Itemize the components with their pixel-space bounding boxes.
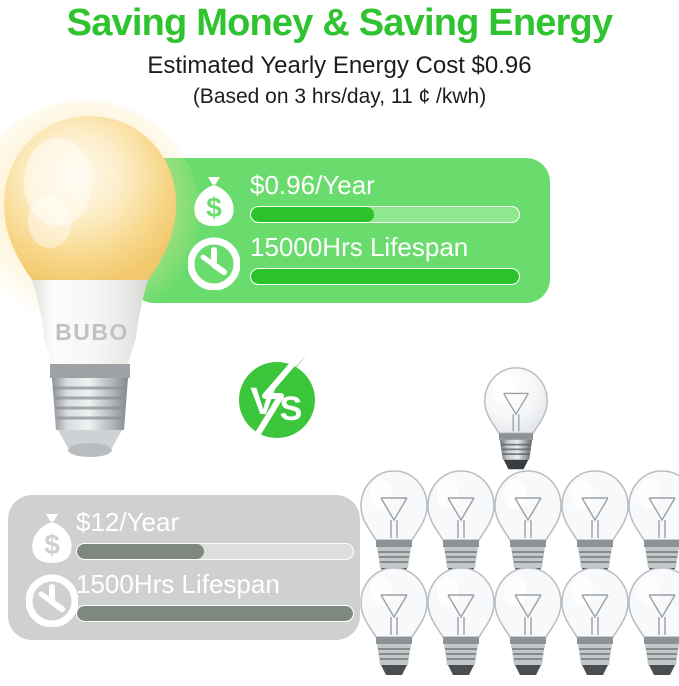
incandescent-bulb: [624, 565, 679, 681]
led-bulb: BUBO: [0, 112, 184, 462]
clock-icon: [26, 573, 78, 627]
incandescent-cost-progress-fill: [77, 544, 204, 559]
incandescent-bulb: [423, 565, 499, 681]
incandescent-lifespan-progress-fill: [77, 606, 353, 621]
header: Saving Money & Saving Energy Estimated Y…: [0, 0, 679, 110]
led-stats-panel: $ $0.96/Year 15000Hrs Lifespan: [130, 158, 550, 303]
led-cost-label: $0.96/Year: [250, 170, 375, 200]
vs-badge: V S: [229, 352, 325, 448]
incandescent-cost-row: $ $12/Year: [8, 507, 360, 569]
money-bag-icon: $: [188, 174, 240, 228]
led-lifespan-row: 15000Hrs Lifespan: [130, 232, 550, 294]
led-lifespan-label: 15000Hrs Lifespan: [250, 232, 468, 262]
svg-text:$: $: [206, 192, 222, 223]
incandescent-stats-panel: $ $12/Year 1500Hrs Lifespan: [8, 495, 360, 640]
incandescent-bulb: [557, 565, 633, 681]
led-cost-progress: [250, 206, 520, 223]
svg-text:$: $: [44, 529, 60, 560]
clock-icon: [188, 236, 240, 290]
subtitle-energy-cost: Estimated Yearly Energy Cost $0.96: [0, 44, 679, 80]
money-bag-icon: $: [26, 511, 78, 565]
led-lifespan-progress: [250, 268, 520, 285]
led-bulb-brand: BUBO: [55, 319, 129, 345]
incandescent-cost-progress: [76, 543, 354, 560]
incandescent-cost-label: $12/Year: [76, 507, 179, 537]
subnote-usage-basis: (Based on 3 hrs/day, 11 ¢ /kwh): [0, 79, 679, 109]
incandescent-bulb: [490, 565, 566, 681]
page-title: Saving Money & Saving Energy: [0, 0, 679, 44]
led-lifespan-progress-fill: [251, 269, 519, 284]
led-cost-row: $ $0.96/Year: [130, 170, 550, 232]
incandescent-bulb: [356, 565, 432, 681]
incandescent-lifespan-row: 1500Hrs Lifespan: [8, 569, 360, 631]
incandescent-bulb: [480, 365, 552, 475]
incandescent-lifespan-progress: [76, 605, 354, 622]
incandescent-lifespan-label: 1500Hrs Lifespan: [76, 569, 280, 599]
led-cost-progress-fill: [251, 207, 374, 222]
